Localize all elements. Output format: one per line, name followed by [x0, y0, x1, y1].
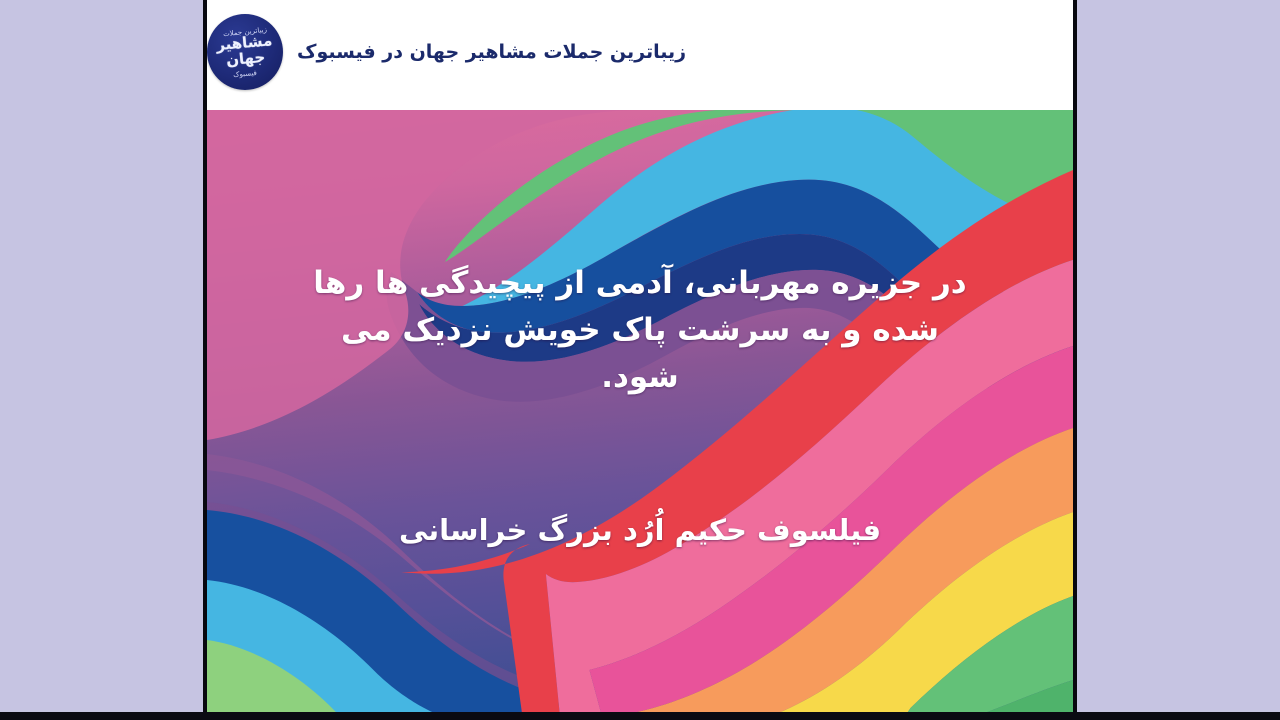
quote-image-card: در جزیره مهربانی، آدمی از پیچیدگی ها رها…	[203, 0, 1077, 714]
screen-stage: در جزیره مهربانی، آدمی از پیچیدگی ها رها…	[0, 0, 1280, 720]
brand-logo-main-script: مشاهیر جهان	[207, 32, 283, 70]
rainbow-waves-svg	[207, 110, 1073, 714]
header-band: زیباترین جملات مشاهیر جهان در فیسبوک زیب…	[207, 0, 1073, 110]
page-title: زیباترین جملات مشاهیر جهان در فیسبوک	[297, 41, 686, 63]
header-inner: زیباترین جملات مشاهیر جهان در فیسبوک زیب…	[207, 14, 696, 90]
card-inner: در جزیره مهربانی، آدمی از پیچیدگی ها رها…	[207, 0, 1073, 714]
brand-logo-icon: زیباترین جملات مشاهیر جهان فیسبوک	[207, 14, 283, 90]
rainbow-artwork	[207, 110, 1073, 714]
letterbox-bottom-bar	[0, 712, 1280, 720]
